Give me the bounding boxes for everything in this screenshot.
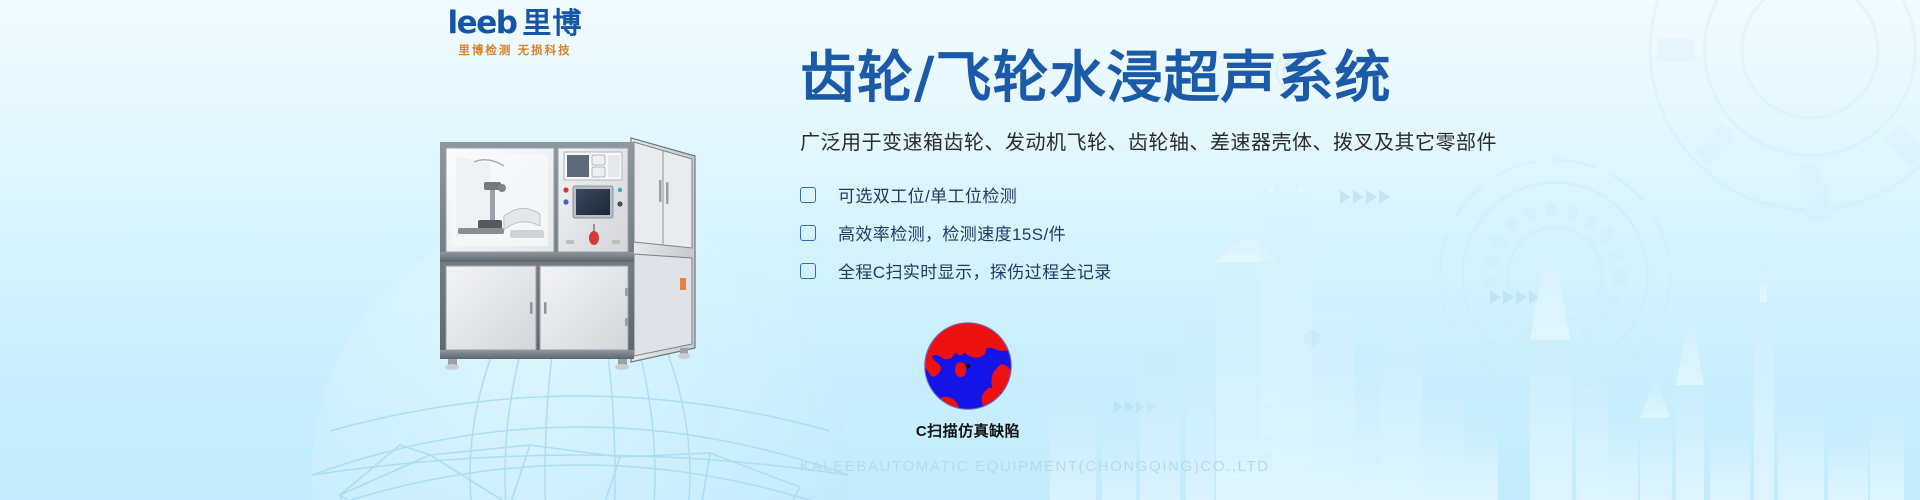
feature-item[interactable]: 高效率检测，检测速度15S/件 — [800, 215, 1800, 251]
page-title: 齿轮/飞轮水浸超声系统 — [800, 48, 1800, 111]
chevron-arrows-icon — [1114, 401, 1157, 413]
feature-label: 可选双工位/单工位检测 — [838, 182, 1017, 207]
decorative-dot — [1304, 330, 1320, 346]
chevron-arrows-icon — [1490, 290, 1540, 304]
hero-subtitle: 广泛用于变速箱齿轮、发动机飞轮、齿轮轴、差速器壳体、拨叉及其它零部件 — [800, 129, 1800, 157]
logo-chinese-text: 里博 — [522, 10, 582, 39]
product-photo-ultrasonic-machine — [418, 120, 708, 372]
cscan-image — [922, 320, 1014, 412]
cscan-sample: C扫描仿真缺陷 — [878, 320, 1058, 441]
checkbox-icon[interactable] — [800, 225, 816, 241]
hero-content: 齿轮/飞轮水浸超声系统 广泛用于变速箱齿轮、发动机飞轮、齿轮轴、差速器壳体、拨叉… — [800, 48, 1800, 291]
feature-item[interactable]: 可选双工位/单工位检测 — [800, 177, 1800, 213]
feature-label: 高效率检测，检测速度15S/件 — [838, 220, 1066, 245]
feature-item[interactable]: 全程C扫实时显示，探伤过程全记录 — [800, 253, 1800, 289]
feature-list: 可选双工位/单工位检测 高效率检测，检测速度15S/件 全程C扫实时显示，探伤过… — [800, 177, 1800, 289]
cscan-defect-map — [922, 320, 1014, 412]
cscan-caption: C扫描仿真缺陷 — [878, 420, 1058, 441]
company-name-footer: KALEEBAUTOMATIC EQUIPMENT(CHONGQING)CO.,… — [800, 458, 1270, 475]
brand-logo[interactable]: leeb 里博 里博检测 无损科技 — [425, 8, 605, 58]
logo-latin-text: leeb — [448, 8, 517, 39]
logo-wordmark: leeb 里博 — [425, 8, 605, 39]
checkbox-icon[interactable] — [800, 263, 816, 279]
checkbox-icon[interactable] — [800, 187, 816, 203]
logo-tagline: 里博检测 无损科技 — [425, 42, 605, 58]
feature-label: 全程C扫实时显示，探伤过程全记录 — [838, 258, 1112, 283]
